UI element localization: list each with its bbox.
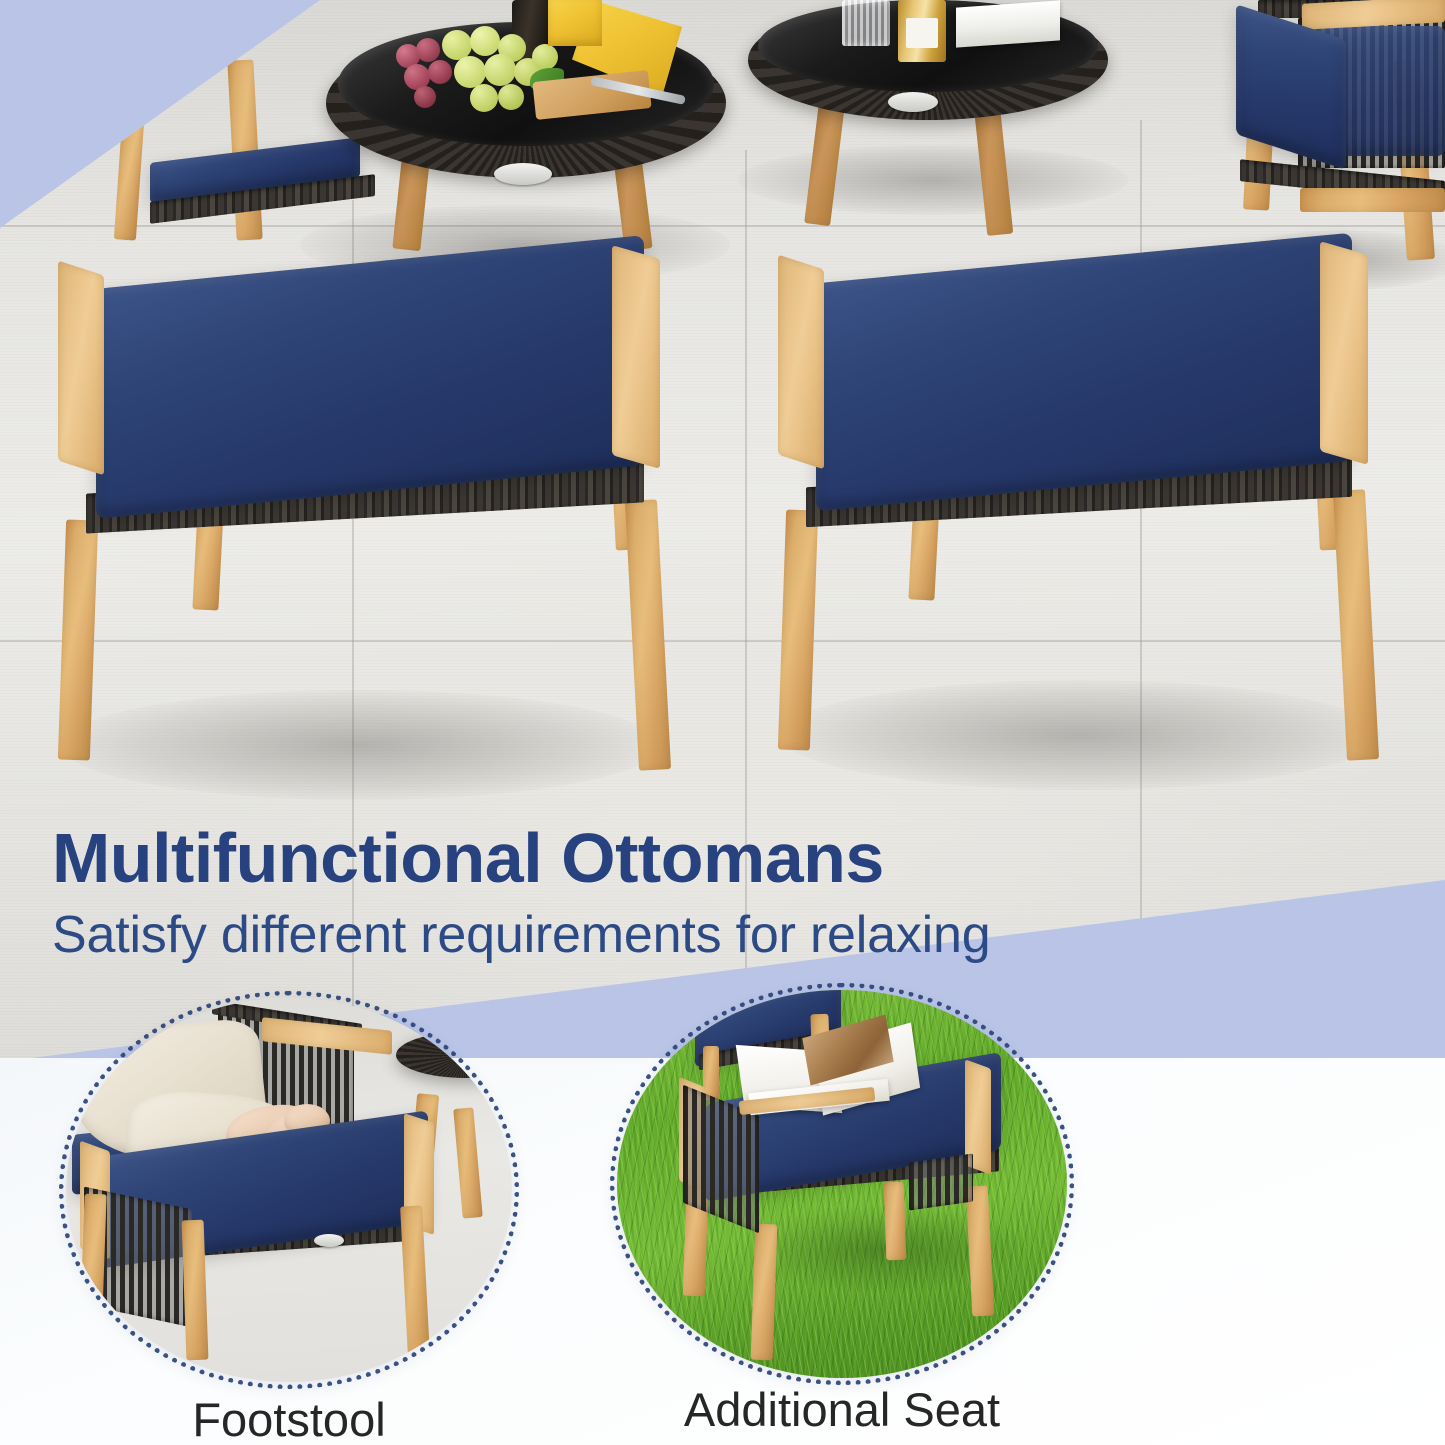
grape [470, 26, 500, 56]
ottoman-frame-left [58, 261, 104, 476]
ottoman-frame-right [1320, 241, 1368, 465]
page-subheadline: Satisfy different requirements for relax… [52, 905, 990, 965]
page-headline: Multifunctional Ottomans [52, 818, 884, 898]
ottoman-shadow [60, 690, 660, 800]
tile-seam [0, 225, 1445, 227]
grape [470, 84, 498, 112]
grape [498, 84, 524, 110]
ottoman-shadow [780, 680, 1380, 790]
chair-front-rail [1300, 188, 1445, 212]
ottoman-frame-left [778, 255, 824, 470]
tile-seam [0, 640, 1445, 642]
brand-badge [494, 163, 552, 185]
brand-badge [888, 92, 938, 112]
feature-caption-footstool: Footstool [66, 1392, 512, 1445]
grape [484, 54, 516, 86]
white-books [956, 0, 1060, 47]
cheese-slab [548, 0, 602, 46]
feature-circle-additional-seat [617, 990, 1067, 1378]
banner-canvas: Multifunctional Ottomans Satisfy differe… [0, 0, 1445, 1445]
feature-circle-footstool [66, 998, 512, 1382]
ottoman-frame-right [612, 245, 660, 469]
candle-label [906, 18, 938, 48]
glass-vase [842, 0, 890, 46]
feature-caption-additional-seat: Additional Seat [617, 1382, 1067, 1437]
circle-dotted-ring [610, 983, 1074, 1385]
circle-dotted-ring [59, 991, 519, 1389]
grape [532, 44, 558, 70]
table-shadow [738, 145, 1128, 215]
